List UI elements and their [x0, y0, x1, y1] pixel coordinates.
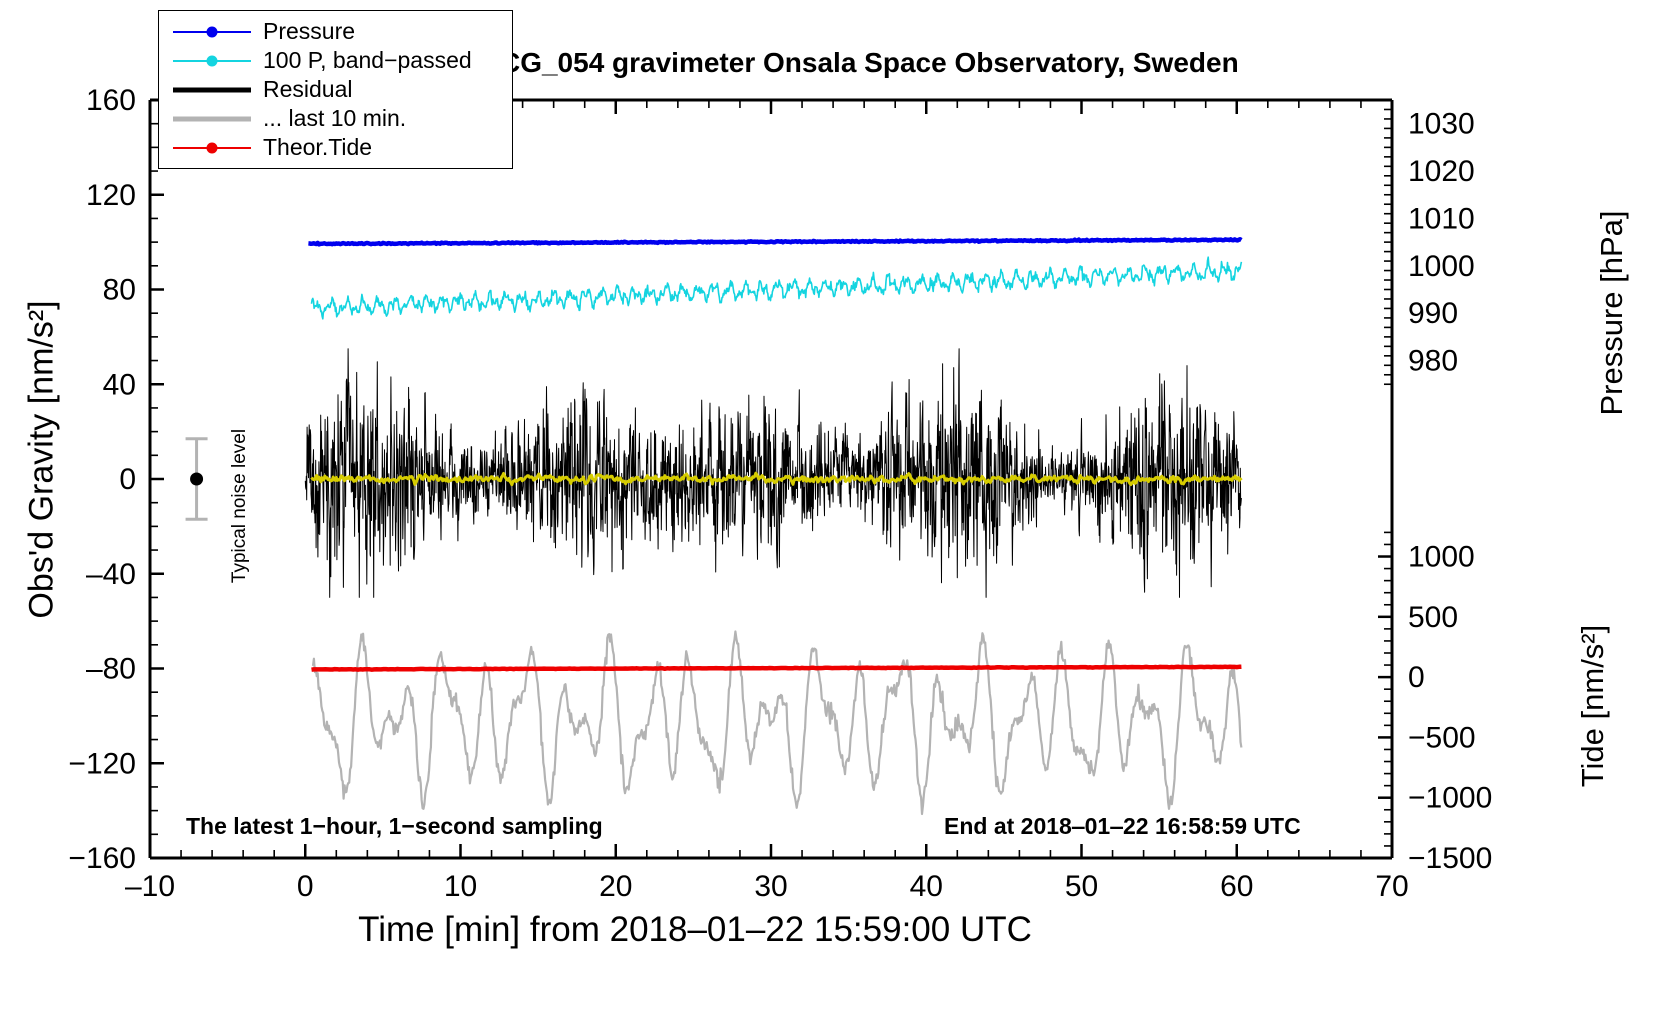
typical-noise-level-label: Typical noise level [229, 396, 251, 616]
tide-tick-label: −1500 [1408, 842, 1492, 875]
x-tick-label: 40 [910, 870, 943, 903]
tide-tick-label: 0 [1408, 661, 1425, 694]
pressure-tick-label: 980 [1408, 345, 1458, 378]
legend-label: Residual [251, 76, 353, 103]
legend-item[interactable]: ... last 10 min. [159, 104, 512, 133]
pressure-tick-label: 990 [1408, 297, 1458, 330]
tide-tick-label: 1000 [1408, 541, 1475, 574]
sampling-note: The latest 1−hour, 1−second sampling [186, 813, 603, 840]
legend-item[interactable]: Residual [159, 75, 512, 104]
pressure-tick-label: 1000 [1408, 250, 1475, 283]
series-theor-tide [312, 667, 1242, 670]
pressure-tick-label: 1010 [1408, 202, 1475, 235]
legend-line-icon [173, 87, 251, 92]
legend-marker-icon [207, 26, 218, 37]
legend-item[interactable]: 100 P, band−passed [159, 46, 512, 75]
legend-swatch [173, 22, 251, 42]
y-tick-label: 80 [103, 274, 136, 307]
series-residual [305, 349, 1241, 598]
legend-swatch [173, 109, 251, 129]
pressure-tick-label: 1030 [1408, 108, 1475, 141]
series-last-10-min [313, 632, 1241, 815]
y-tick-label: ‒40 [86, 558, 136, 591]
x-tick-label: 30 [754, 870, 787, 903]
legend-swatch [173, 138, 251, 158]
x-tick-label: 60 [1220, 870, 1253, 903]
legend-marker-icon [207, 55, 218, 66]
y-tick-label: 40 [103, 368, 136, 401]
annotation-group [186, 439, 208, 520]
y-tick-label: ‒80 [86, 653, 136, 686]
legend-item[interactable]: Theor.Tide [159, 133, 512, 162]
legend-item[interactable]: Pressure [159, 17, 512, 46]
legend-swatch [173, 80, 251, 100]
end-time-note: End at 2018‒01‒22 16:58:59 UTC [944, 813, 1301, 840]
tide-tick-label: −1000 [1408, 782, 1492, 815]
x-tick-label: 10 [444, 870, 477, 903]
series-pressure [308, 239, 1241, 244]
legend-label: 100 P, band−passed [251, 47, 472, 74]
legend-line-icon [173, 116, 251, 121]
y-tick-label: 120 [86, 179, 136, 212]
y-axis-label-tide: Tide [nm/s²] [1575, 541, 1611, 871]
legend-swatch [173, 51, 251, 71]
y-tick-label: −120 [68, 747, 136, 780]
chart-canvas: ‒10010203040506070−160−120‒80‒4004080120… [0, 0, 1660, 1020]
noise-level-marker [190, 473, 203, 486]
y-tick-label: 160 [86, 84, 136, 117]
pressure-tick-label: 1020 [1408, 155, 1475, 188]
series-group [305, 239, 1241, 814]
x-tick-label: 0 [297, 870, 314, 903]
tide-tick-label: 500 [1408, 601, 1458, 634]
legend-label: ... last 10 min. [251, 105, 406, 132]
x-tick-label: 70 [1375, 870, 1408, 903]
y-tick-label: 0 [119, 463, 136, 496]
x-tick-label: 20 [599, 870, 632, 903]
series-band-passed [312, 257, 1242, 319]
legend-label: Theor.Tide [251, 134, 372, 161]
legend-label: Pressure [251, 18, 355, 45]
legend-marker-icon [207, 142, 218, 153]
x-axis-label: Time [min] from 2018‒01‒22 15:59:00 UTC [150, 910, 1240, 950]
y-axis-label-left: Obs'd Gravity [nm/s²] [23, 260, 62, 660]
x-tick-label: 50 [1065, 870, 1098, 903]
tide-tick-label: −500 [1408, 721, 1476, 754]
y-axis-label-pressure: Pressure [hPa] [1594, 113, 1630, 513]
y-tick-label: −160 [68, 842, 136, 875]
legend: Pressure100 P, band−passedResidual... la… [158, 10, 513, 169]
